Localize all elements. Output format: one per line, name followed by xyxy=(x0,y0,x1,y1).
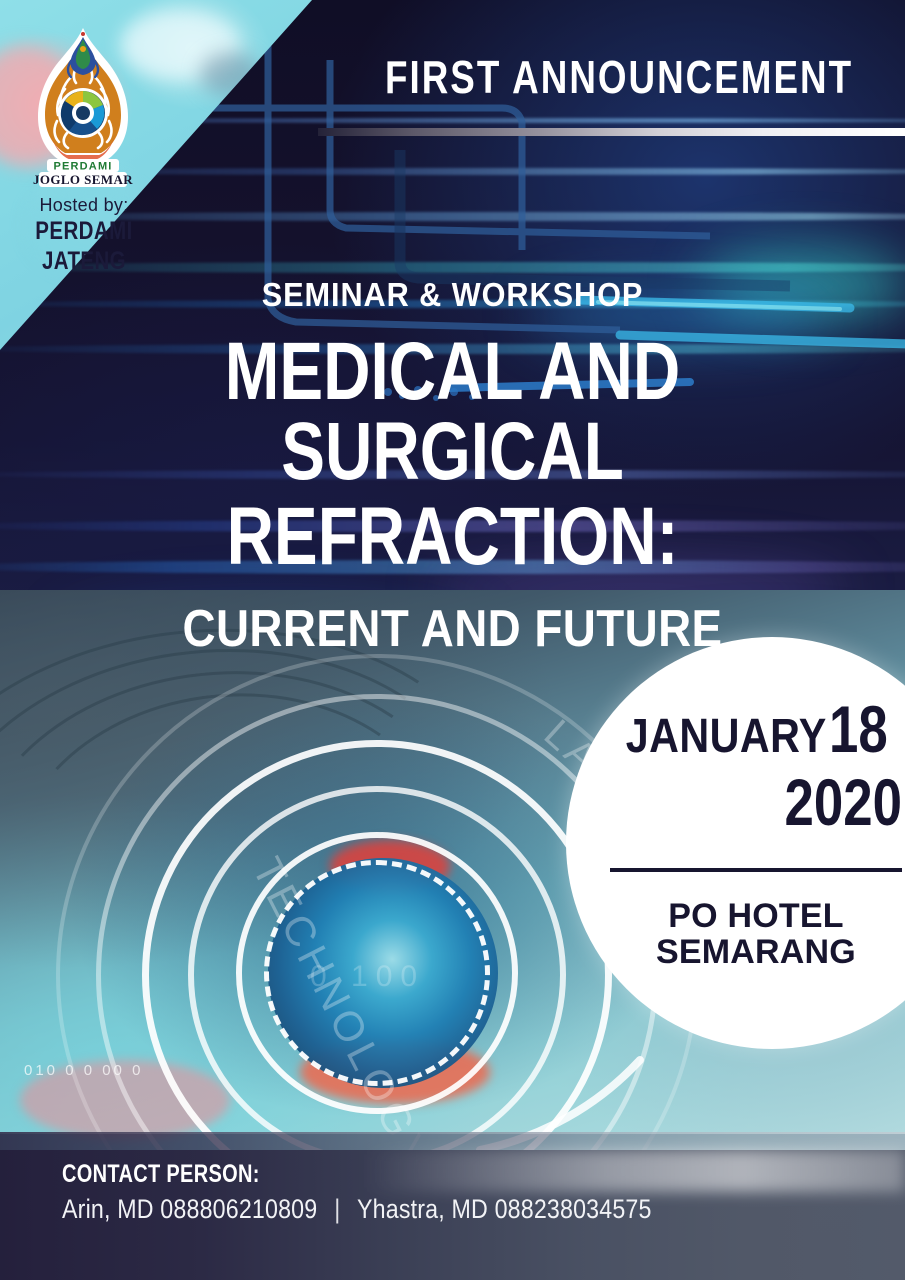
poster-canvas: ING LASER xyxy=(0,0,905,1280)
iris-binary-watermark: 0 100 xyxy=(310,960,425,994)
contact-person-details: Arin, MD 088806210809 | Yhastra, MD 0882… xyxy=(62,1194,652,1225)
contact-person-1: Arin, MD 088806210809 xyxy=(62,1194,317,1224)
contact-person-2: Yhastra, MD 088238034575 xyxy=(357,1194,652,1224)
event-month: JANUARY xyxy=(626,715,827,759)
title-block: SEMINAR & WORKSHOP MEDICAL AND SURGICAL … xyxy=(0,276,905,659)
date-venue-divider xyxy=(610,868,902,872)
main-title-line1: MEDICAL AND SURGICAL xyxy=(225,326,681,497)
hosted-by-label: Hosted by: xyxy=(0,196,168,214)
host-name-line2: JATENG xyxy=(15,249,153,274)
event-day: 18 xyxy=(829,699,888,760)
host-name-line1: PERDAMI xyxy=(15,219,153,244)
event-year: 2020 xyxy=(668,764,902,840)
contact-person-label: CONTACT PERSON: xyxy=(62,1160,260,1189)
venue-block: PO HOTEL SEMARANG xyxy=(610,898,902,971)
logo-org-name: PERDAMI xyxy=(53,161,112,173)
logo-mark: PERDAMI JOGLO SEMAR xyxy=(27,25,139,193)
date-badge-content: JANUARY 18 2020 PO HOTEL SEMARANG xyxy=(610,699,902,971)
hosted-by-block: Hosted by: PERDAMI JATENG xyxy=(0,196,168,274)
event-type-eyebrow: SEMINAR & WORKSHOP xyxy=(32,276,874,314)
main-title-line2: REFRACTION: xyxy=(91,497,815,577)
date-month-day-row: JANUARY 18 xyxy=(610,699,902,760)
perdami-joglo-semar-logo: PERDAMI JOGLO SEMAR xyxy=(27,25,139,193)
header-divider-rule xyxy=(318,128,905,136)
venue-line1: PO HOTEL xyxy=(610,898,902,935)
logo-org-chapter: JOGLO SEMAR xyxy=(33,172,133,187)
binary-strip-text: 010 0 0 00 0 xyxy=(24,1062,143,1079)
first-announcement-heading: FIRST ANNOUNCEMENT xyxy=(385,50,853,104)
footer-contact-bar: CONTACT PERSON: Arin, MD 088806210809 | … xyxy=(0,1132,905,1280)
venue-line2: SEMARANG xyxy=(610,934,902,971)
footer-top-edge xyxy=(0,1132,905,1134)
main-title: MEDICAL AND SURGICAL REFRACTION: xyxy=(91,332,815,577)
footer-light-streak xyxy=(362,1150,905,1192)
contact-separator: | xyxy=(324,1194,351,1225)
